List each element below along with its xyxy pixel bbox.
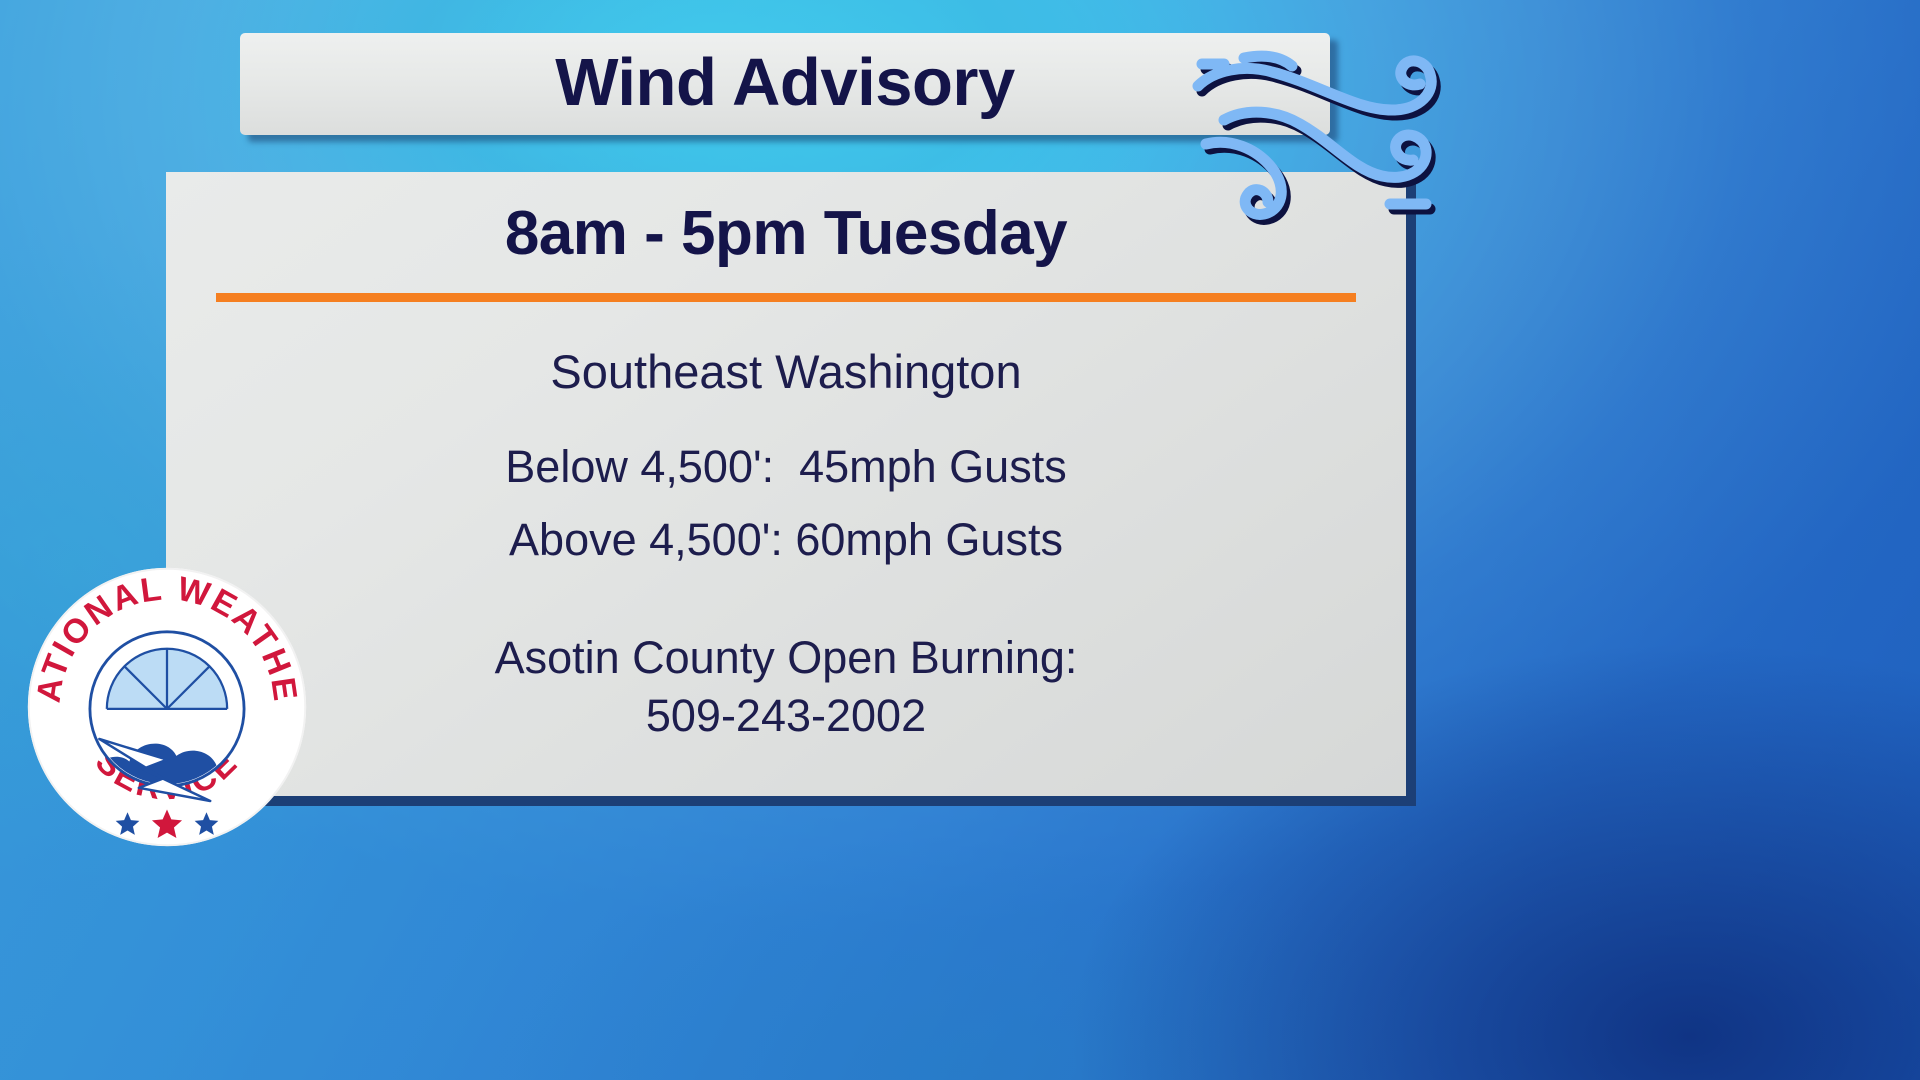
advisory-content-panel: 8am - 5pm Tuesday Southeast Washington B…	[166, 172, 1406, 796]
open-burning-label: Asotin County Open Burning:	[495, 629, 1078, 688]
nws-seal-logo: NATIONAL WEATHER SERVICE	[26, 566, 308, 848]
orange-divider	[216, 293, 1356, 302]
gust-line-below: Below 4,500': 45mph Gusts	[505, 431, 1066, 504]
advisory-region: Southeast Washington	[550, 344, 1021, 399]
gust-list: Below 4,500': 45mph Gusts Above 4,500': …	[505, 431, 1066, 577]
open-burning-phone: 509-243-2002	[495, 687, 1078, 746]
open-burning-info: Asotin County Open Burning: 509-243-2002	[495, 629, 1078, 746]
title-bar: Wind Advisory	[240, 33, 1330, 135]
gust-line-above: Above 4,500': 60mph Gusts	[505, 504, 1066, 577]
page-title: Wind Advisory	[555, 44, 1014, 121]
advisory-time-range: 8am - 5pm Tuesday	[505, 198, 1067, 269]
